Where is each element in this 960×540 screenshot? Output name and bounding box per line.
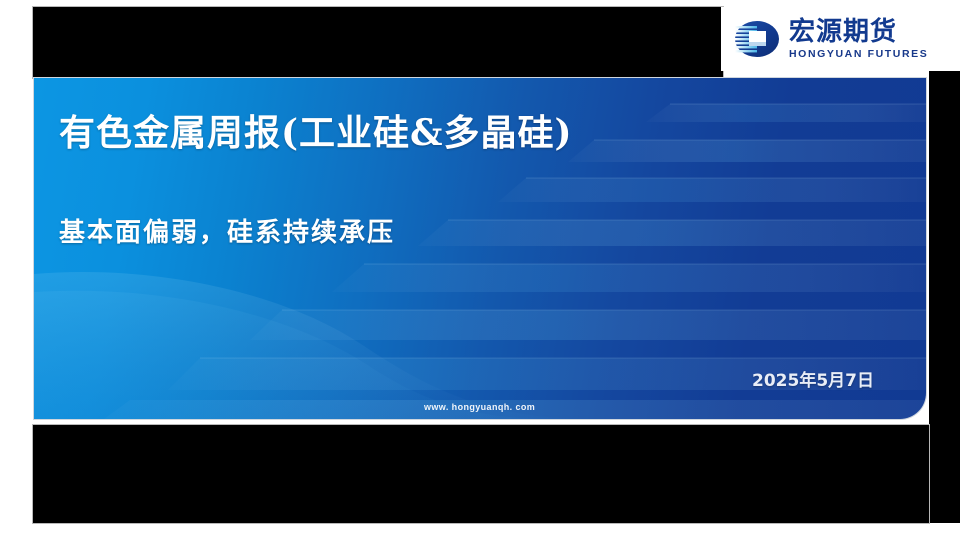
hongyuan-circle-mark-icon — [734, 18, 780, 60]
slide-canvas: 宏源期货 HONGYUAN FUTURES — [0, 0, 960, 540]
slide-date: 2025年5月7日 — [752, 366, 874, 391]
title-slide-panel: 有色金属周报(工业硅&多晶硅) 基本面偏弱，硅系持续承压 2025年5月7日 w… — [34, 78, 926, 419]
logo-wordmark: 宏源期货 HONGYUAN FUTURES — [789, 19, 928, 60]
letterbox-right — [929, 7, 960, 523]
website-url: www. hongyuanqh. com — [424, 402, 535, 412]
logo-english-name: HONGYUAN FUTURES — [789, 49, 928, 60]
letterbox-top — [33, 7, 723, 78]
slide-title: 有色金属周报(工业硅&多晶硅) — [59, 104, 573, 156]
logo-chinese-name: 宏源期货 — [789, 19, 928, 45]
letterbox-bottom — [33, 425, 929, 523]
slide-subtitle: 基本面偏弱，硅系持续承压 — [59, 212, 395, 249]
company-logo: 宏源期货 HONGYUAN FUTURES — [721, 7, 960, 71]
